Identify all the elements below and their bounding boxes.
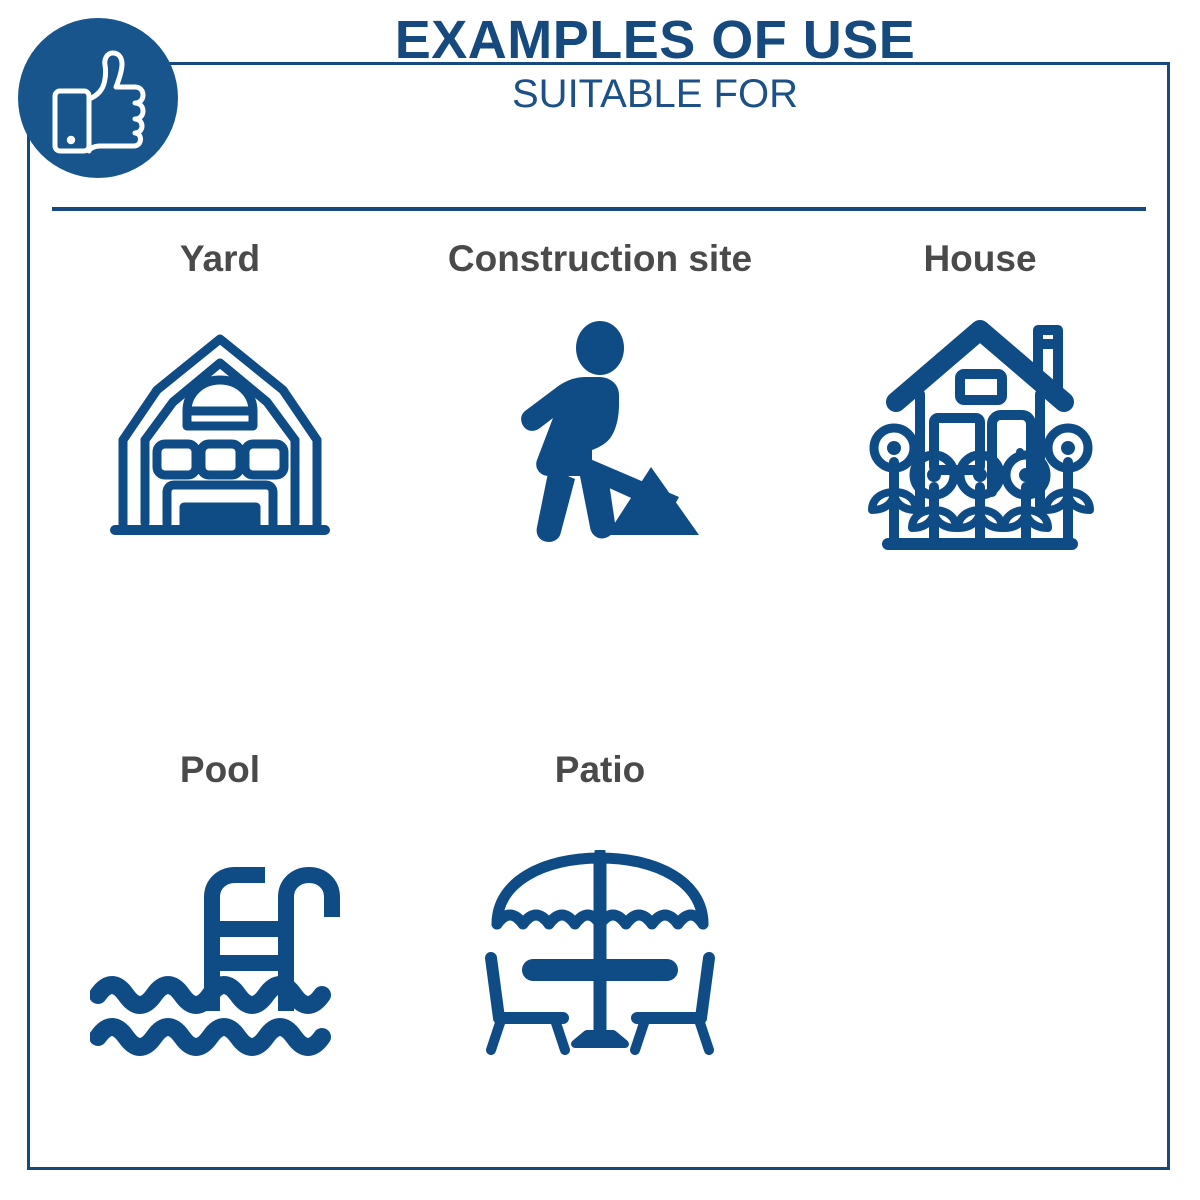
examples-grid: Yard xyxy=(30,240,1170,1074)
example-label-house: House xyxy=(923,240,1036,277)
header: EXAMPLES OF USE SUITABLE FOR xyxy=(200,12,1110,117)
thumbs-up-badge xyxy=(18,18,178,178)
construction-worker-icon xyxy=(493,311,708,551)
example-cell-construction-site: Construction site xyxy=(410,240,790,551)
example-cell-patio: Patio xyxy=(410,751,790,1074)
page-subtitle: SUITABLE FOR xyxy=(200,71,1110,117)
example-label-construction-site: Construction site xyxy=(448,240,752,277)
barn-icon xyxy=(109,311,331,551)
example-label-yard: Yard xyxy=(180,240,260,277)
example-cell-pool: Pool xyxy=(30,751,410,1074)
patio-umbrella-table-icon xyxy=(475,834,725,1074)
house-with-flowers-icon xyxy=(862,311,1098,551)
header-divider xyxy=(52,207,1146,211)
example-cell-house: House xyxy=(790,240,1170,551)
example-label-patio: Patio xyxy=(555,751,645,788)
example-label-pool: Pool xyxy=(180,751,260,788)
examples-row-1: Yard xyxy=(30,240,1170,551)
examples-row-2: Pool xyxy=(30,751,1170,1074)
thumbs-up-icon xyxy=(39,39,157,157)
page-title: EXAMPLES OF USE xyxy=(200,12,1110,69)
example-cell-yard: Yard xyxy=(30,240,410,551)
pool-ladder-icon xyxy=(90,834,350,1074)
